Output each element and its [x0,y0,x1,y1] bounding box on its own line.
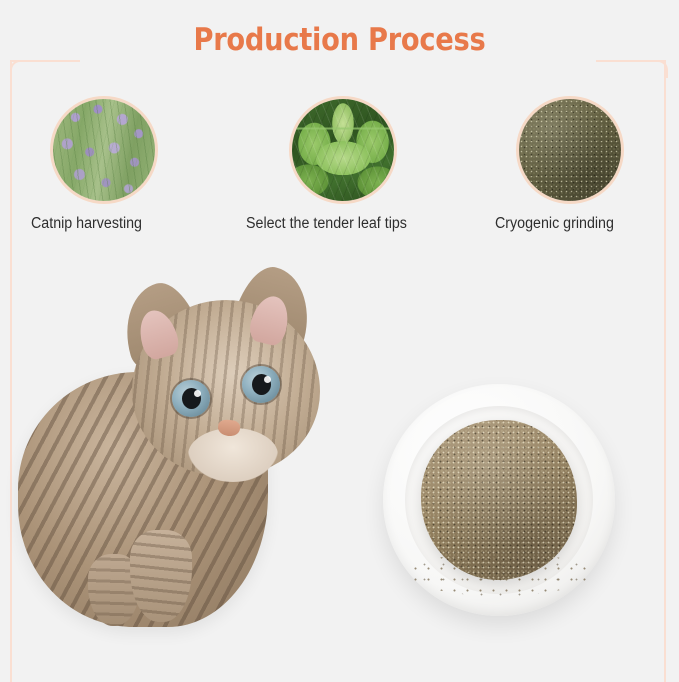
catnip-field-photo [53,99,155,201]
kitten-eye-glint-right [264,376,271,383]
process-step-2-label: Select the tender leaf tips [246,215,407,233]
process-steps: Catnip harvesting Select the tender leaf… [0,0,679,260]
kitten-eye-glint-left [194,390,201,397]
tabby-kitten-photo [12,262,352,622]
production-process-infographic: Production Process Catnip harvesting Sel… [0,0,679,682]
white-bowl-catnip-photo [383,384,615,616]
catnip-leaves-photo [292,99,394,201]
catnip-powder-crumbs [409,552,589,596]
ground-catnip-powder-photo [519,99,621,201]
kitten-muzzle [188,428,278,482]
process-step-3-label: Cryogenic grinding [495,215,614,233]
catnip-leaves-art [292,99,394,201]
hero-photo-area [12,262,667,680]
process-step-1-label: Catnip harvesting [31,215,142,233]
ground-catnip-powder-art [519,99,621,201]
catnip-field-art [53,99,155,201]
